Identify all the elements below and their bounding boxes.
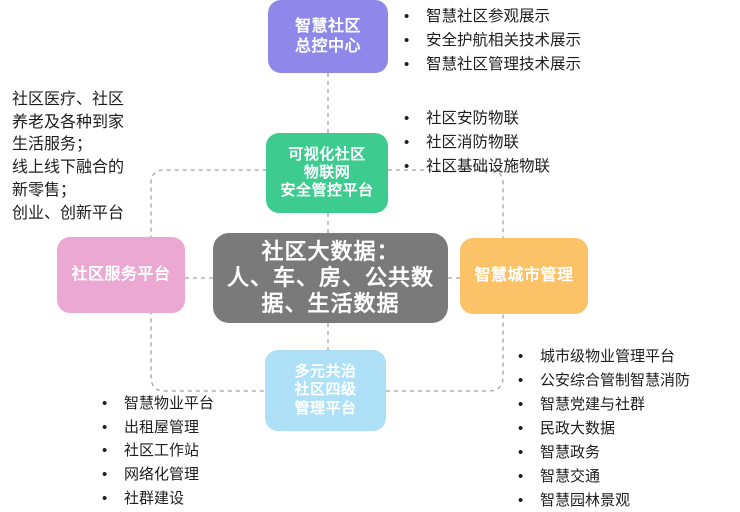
list-item-label: 社区消防物联 bbox=[426, 131, 519, 155]
diagram-canvas: 智慧社区 总控中心 可视化社区 物联网 安全管控平台 社区服务平台 智慧城市管理… bbox=[0, 0, 740, 512]
bullet-icon: • bbox=[102, 392, 124, 416]
list-item-label: 社区工作站 bbox=[124, 439, 199, 463]
node-smart-community-control-center[interactable]: 智慧社区 总控中心 bbox=[268, 0, 388, 73]
list-item-label: 民政大数据 bbox=[540, 417, 615, 441]
bullet-icon: • bbox=[518, 489, 540, 512]
node-smart-city-management[interactable]: 智慧城市管理 bbox=[460, 238, 588, 314]
list-item: • 智慧园林景观 bbox=[518, 489, 690, 512]
node-four-level-governance-platform[interactable]: 多元共治 社区四级 管理平台 bbox=[265, 350, 386, 431]
paragraph-line: 养老及各种到家 bbox=[12, 112, 124, 135]
list-item: • 社区安防物联 bbox=[404, 107, 550, 131]
node-community-service-platform[interactable]: 社区服务平台 bbox=[57, 237, 185, 313]
paragraph-line: 创业、创新平台 bbox=[12, 203, 124, 226]
node-line: 安全管控平台 bbox=[266, 182, 388, 200]
list-item: • 智慧政务 bbox=[518, 441, 690, 465]
bullet-icon: • bbox=[404, 156, 426, 179]
node-line: 社区大数据： bbox=[213, 239, 448, 265]
paragraph-line: 社区医疗、社区 bbox=[12, 89, 124, 112]
node-line: 社区四级 bbox=[265, 381, 386, 399]
list-item: • 智慧党建与社群 bbox=[518, 393, 690, 417]
list-item: • 智慧物业平台 bbox=[102, 392, 214, 416]
list-item: • 社区工作站 bbox=[102, 439, 214, 463]
list-item: • 安全护航相关技术展示 bbox=[404, 29, 581, 53]
list-item: • 公安综合管制智慧消防 bbox=[518, 369, 690, 393]
list-item-label: 智慧社区管理技术展示 bbox=[426, 53, 581, 77]
annotation-service-platform-text: 社区医疗、社区 养老及各种到家 生活服务； 线上线下融合的 新零售； 创业、创新… bbox=[12, 89, 124, 225]
list-item-label: 社群建设 bbox=[124, 487, 184, 511]
node-line: 可视化社区 bbox=[266, 146, 388, 164]
node-line: 物联网 bbox=[266, 164, 388, 182]
bullet-icon: • bbox=[404, 30, 426, 53]
list-item-label: 智慧党建与社群 bbox=[540, 393, 645, 417]
bullet-icon: • bbox=[102, 416, 124, 440]
list-item: • 智慧社区参观展示 bbox=[404, 5, 581, 29]
list-item: • 社区消防物联 bbox=[404, 131, 550, 155]
node-line: 智慧社区 bbox=[268, 17, 388, 37]
paragraph-line: 新零售； bbox=[12, 180, 124, 203]
list-item: • 社区基础设施物联 bbox=[404, 155, 550, 179]
node-line: 据、生活数据 bbox=[213, 291, 448, 317]
list-item-label: 网络化管理 bbox=[124, 463, 199, 487]
bullet-icon: • bbox=[102, 487, 124, 511]
node-line: 多元共治 bbox=[265, 363, 386, 381]
node-line: 管理平台 bbox=[265, 400, 386, 418]
bullet-icon: • bbox=[518, 345, 540, 369]
node-line: 智慧城市管理 bbox=[460, 266, 588, 286]
list-item-label: 智慧物业平台 bbox=[124, 392, 214, 416]
bullet-icon: • bbox=[518, 369, 540, 393]
list-item-label: 智慧园林景观 bbox=[540, 489, 630, 512]
list-item-label: 社区基础设施物联 bbox=[426, 155, 550, 179]
list-item: • 网络化管理 bbox=[102, 463, 214, 487]
bullet-icon: • bbox=[518, 417, 540, 441]
paragraph-line: 生活服务； bbox=[12, 134, 124, 157]
list-item: • 智慧交通 bbox=[518, 465, 690, 489]
bullet-icon: • bbox=[102, 463, 124, 487]
node-community-big-data[interactable]: 社区大数据： 人、车、房、公共数 据、生活数据 bbox=[213, 233, 448, 323]
annotation-governance-list: • 智慧物业平台 • 出租屋管理 • 社区工作站 • 网络化管理 • 社群建设 bbox=[102, 392, 214, 510]
node-line: 社区服务平台 bbox=[57, 265, 185, 285]
annotation-smart-city-list: • 城市级物业管理平台 • 公安综合管制智慧消防 • 智慧党建与社群 • 民政大… bbox=[518, 345, 690, 512]
list-item-label: 智慧交通 bbox=[540, 465, 600, 489]
list-item: • 民政大数据 bbox=[518, 417, 690, 441]
node-line: 总控中心 bbox=[268, 37, 388, 57]
list-item-label: 公安综合管制智慧消防 bbox=[540, 369, 690, 393]
list-item: • 智慧社区管理技术展示 bbox=[404, 53, 581, 77]
list-item: • 社群建设 bbox=[102, 487, 214, 511]
list-item-label: 智慧政务 bbox=[540, 441, 600, 465]
list-item-label: 安全护航相关技术展示 bbox=[426, 29, 581, 53]
annotation-iot-list: • 社区安防物联 • 社区消防物联 • 社区基础设施物联 bbox=[404, 107, 550, 178]
bullet-icon: • bbox=[404, 132, 426, 155]
bullet-icon: • bbox=[404, 6, 426, 29]
paragraph-line: 线上线下融合的 bbox=[12, 157, 124, 180]
bullet-icon: • bbox=[102, 439, 124, 463]
bullet-icon: • bbox=[518, 465, 540, 489]
bullet-icon: • bbox=[404, 108, 426, 131]
list-item-label: 城市级物业管理平台 bbox=[540, 345, 675, 369]
list-item-label: 出租屋管理 bbox=[124, 416, 199, 440]
list-item: • 城市级物业管理平台 bbox=[518, 345, 690, 369]
list-item-label: 社区安防物联 bbox=[426, 107, 519, 131]
bullet-icon: • bbox=[518, 393, 540, 417]
bullet-icon: • bbox=[518, 441, 540, 465]
node-line: 人、车、房、公共数 bbox=[213, 265, 448, 291]
bullet-icon: • bbox=[404, 54, 426, 77]
list-item: • 出租屋管理 bbox=[102, 416, 214, 440]
node-visual-community-iot-platform[interactable]: 可视化社区 物联网 安全管控平台 bbox=[266, 133, 388, 213]
annotation-control-center-list: • 智慧社区参观展示 • 安全护航相关技术展示 • 智慧社区管理技术展示 bbox=[404, 5, 581, 76]
list-item-label: 智慧社区参观展示 bbox=[426, 5, 550, 29]
